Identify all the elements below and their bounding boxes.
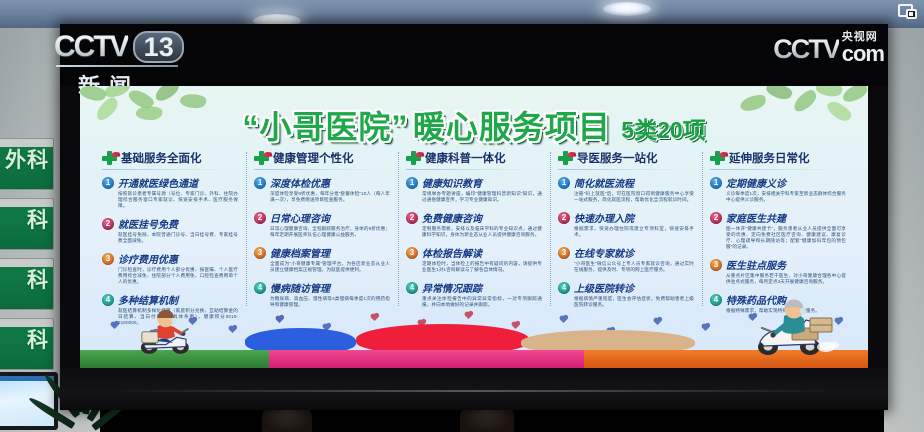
poster-title-count: 5类20项 bbox=[621, 117, 705, 143]
item-number-badge: 2 bbox=[406, 212, 418, 224]
item-title: 诊疗费用优惠 bbox=[118, 251, 178, 266]
medical-cross-icon bbox=[102, 151, 117, 165]
medical-cross-icon bbox=[710, 151, 725, 165]
item-title: 健康知识教育 bbox=[422, 175, 482, 190]
channel-number: 13 bbox=[133, 31, 184, 63]
item-title: 上级医院转诊 bbox=[574, 280, 634, 295]
department-sign: 科 bbox=[0, 198, 54, 250]
item-title: 体检报告解读 bbox=[422, 245, 482, 260]
item-number-badge: 4 bbox=[406, 282, 418, 294]
item-body: 门诊检查时，诊疗费用个人部分优惠、按医嘱、个人医疗费用综合减免、住院部分个人费用… bbox=[118, 267, 238, 285]
screen-top-bezel bbox=[60, 24, 888, 86]
screen-bottom-bezel bbox=[60, 368, 888, 410]
medical-cross-icon bbox=[558, 151, 573, 165]
item-number-badge: 1 bbox=[558, 177, 570, 189]
poster-item: 1开通就医绿色通道 按照就诊患者专属号源（号位、专家门诊、外科、住院办理综合服务… bbox=[102, 175, 238, 209]
item-number-badge: 2 bbox=[558, 212, 570, 224]
poster-item: 3体检报告解读 定期体检时，当体检上的报告中有疑问的内容，请提供专业医生1对1咨… bbox=[406, 245, 542, 273]
medical-cross-icon bbox=[254, 151, 269, 165]
poster-item: 2就医挂号免费 就医挂号免除、本院普通门诊号、当日挂号费、专家挂号费全面减免。 bbox=[102, 216, 238, 244]
department-sign: 外科 bbox=[0, 138, 54, 190]
item-body: 从重点片区集中服务若干医生，对小哥健康合理各中心提供驻点式服务，每月定点3天开展… bbox=[726, 273, 846, 285]
item-number-badge: 2 bbox=[102, 218, 114, 230]
poster-columns: 基础服务全面化 1开通就医绿色通道 按照就诊患者专属号源（号位、专家门诊、外科、… bbox=[94, 150, 854, 312]
poster-title-main: 暖心服务项目 bbox=[413, 109, 611, 145]
column-rule bbox=[254, 169, 390, 170]
column-rule bbox=[102, 169, 238, 170]
item-title: 在线专家就诊 bbox=[574, 245, 634, 260]
item-number-badge: 1 bbox=[102, 177, 114, 189]
item-body: “小哥医生”微信公众号上专人员专家就诊咨询，通过实时在线服务，提供及时、专项的网… bbox=[574, 261, 694, 273]
item-title: 健康档案管理 bbox=[270, 245, 330, 260]
item-title: 慢病随访管理 bbox=[270, 280, 330, 295]
screen-share-icon[interactable] bbox=[898, 4, 918, 22]
item-body: 全面成为“小哥健康专属”管理平台，为各区新业态从业人员建立健康档案正规管理，为就… bbox=[270, 261, 390, 273]
poster-column-1: 基础服务全面化 1开通就医绿色通道 按照就诊患者专属号源（号位、专家门诊、外科、… bbox=[94, 150, 246, 312]
poster-content: “小哥医院” 暖心服务项目 5类20项 基础服务全面化 1开通就医绿色通道 按照… bbox=[80, 86, 868, 368]
item-body: 义诊每季度1次，安排相关学科专家至新业态群体综合服务中心提供义诊服务。 bbox=[726, 191, 846, 203]
item-number-badge: 1 bbox=[406, 177, 418, 189]
medical-cross-icon bbox=[406, 151, 421, 165]
poster-item: 4慢病随访管理 为糖尿病、高血压、慢性病等4类慢病每季度1次的用药指导和健康管理… bbox=[254, 280, 390, 308]
item-body: 按照就诊患者专属号源（号位、专家门诊、外科、住院办理综合服务窗口专家就诊、快速安… bbox=[118, 191, 238, 209]
screenshot-root: 外科 科 科 科 CCTV 13 新闻 CCTV bbox=[0, 0, 924, 432]
item-body: 根据病情严重程度，医生会评估症状，免费帮助患者上级医院转诊服务。 bbox=[574, 296, 694, 308]
item-body: 就医挂号免除、本院普通门诊号、当日挂号费、专家挂号费全面减免。 bbox=[118, 232, 238, 244]
item-body: 日常心理健康咨询、全程跟踪服务治疗，身体的8折优惠；每年定期开展医师队伍心理健康… bbox=[270, 226, 390, 238]
item-number-badge: 4 bbox=[102, 294, 114, 306]
poster-item: 4异常情况跟踪 重点关注体检报告中的异常异常指标，一对专项跟踪通报，并向本地做好… bbox=[406, 280, 542, 308]
poster-item: 3在线专家就诊 “小哥医生”微信公众号上专人员专家就诊咨询，通过实时在线服务，提… bbox=[558, 245, 694, 273]
poster-column-3: 健康科普一体化 1健康知识教育 常规举办专题讲座，编印“健康管理科普新知识”知识… bbox=[398, 150, 550, 312]
poster-column-4: 导医服务一站化 1简化就医流程 注册“码上就医”后，可在医院窗口得到健康服务中心… bbox=[550, 150, 702, 312]
item-number-badge: 4 bbox=[710, 294, 722, 306]
wall-right bbox=[884, 28, 924, 432]
cctv-watermark-wordmark: CCTV bbox=[773, 34, 839, 65]
item-title: 异常情况跟踪 bbox=[422, 280, 482, 295]
poster-item: 1深度体检优惠 深度体检享受8折优惠，每年分批“套餐体检”10人（每人年满一次）… bbox=[254, 175, 390, 203]
item-title: 日常心理咨询 bbox=[270, 210, 330, 225]
poster-item: 2免费健康咨询 定制服务需要，安排以及临床学科的专业知识点，通过健康科学知识，身… bbox=[406, 210, 542, 238]
item-number-badge: 2 bbox=[710, 212, 722, 224]
item-body: 根据需求，快速办理住院或建立专项科室，快速安排手术。 bbox=[574, 226, 694, 238]
ceiling-light-2 bbox=[603, 2, 651, 16]
item-body: 图一体开“健康共建卡”，服务患者从业人员提供全面可享受的优惠、定向免费社区医疗咨… bbox=[726, 226, 846, 250]
department-sign-board: 外科 科 科 科 bbox=[0, 138, 54, 378]
poster-column-5: 延伸服务日常化 1定期健康义诊 义诊每季度1次，安排相关学科专家至新业态群体综合… bbox=[702, 150, 854, 312]
poster-item: 1简化就医流程 注册“码上就医”后，可在医院窗口得到健康服务中心享受一站式服务，… bbox=[558, 175, 694, 203]
cctv-wordmark: CCTV bbox=[54, 30, 128, 64]
cctv-com-watermark: CCTV 央视网 com bbox=[773, 32, 884, 65]
item-title: 简化就医流程 bbox=[574, 175, 634, 190]
column-rule bbox=[710, 169, 846, 170]
poster-item: 3健康档案管理 全面成为“小哥健康专属”管理平台，为各区新业态从业人员建立健康档… bbox=[254, 245, 390, 273]
domain-label: com bbox=[842, 43, 884, 65]
poster-title: “小哥医院” 暖心服务项目 5类20项 bbox=[80, 102, 868, 148]
item-number-badge: 4 bbox=[558, 282, 570, 294]
item-title: 医生驻点服务 bbox=[726, 257, 786, 272]
column-header: 健康管理个性化 bbox=[273, 150, 354, 166]
poster-item: 2快速办理入院 根据需求，快速办理住院或建立专项科室，快速安排手术。 bbox=[558, 210, 694, 238]
column-rule bbox=[558, 169, 694, 170]
poster-title-quoted: “小哥医院” bbox=[242, 109, 408, 145]
poster-column-2: 健康管理个性化 1深度体检优惠 深度体检享受8折优惠，每年分批“套餐体检”10人… bbox=[246, 150, 398, 312]
poster-item: 3诊疗费用优惠 门诊检查时，诊疗费用个人部分优惠、按医嘱、个人医疗费用综合减免、… bbox=[102, 251, 238, 285]
column-header: 基础服务全面化 bbox=[121, 150, 202, 166]
led-display-screen: CCTV 13 新闻 CCTV 央视网 com bbox=[60, 24, 888, 410]
item-title: 就医挂号免费 bbox=[118, 216, 178, 231]
item-title: 快速办理入院 bbox=[574, 210, 634, 225]
item-body: 定制服务需要，安排以及临床学科的专业知识点，通过健康科学知识，身体为新业态从业人… bbox=[422, 226, 542, 238]
delivery-rider-right-illustration bbox=[748, 298, 844, 356]
item-body: 注册“码上就医”后，可在医院窗口得到健康服务中心享受一站式服务，简化就医流程，帮… bbox=[574, 191, 694, 203]
item-number-badge: 4 bbox=[254, 282, 266, 294]
item-number-badge: 3 bbox=[254, 247, 266, 259]
poster-item: 1健康知识教育 常规举办专题讲座，编印“健康管理科普新知识”知识，通过通俗健康宣… bbox=[406, 175, 542, 203]
item-title: 家庭医生共建 bbox=[726, 210, 786, 225]
item-title: 免费健康咨询 bbox=[422, 210, 482, 225]
poster-item: 3医生驻点服务 从重点片区集中服务若干医生，对小哥健康合理各中心提供驻点式服务，… bbox=[710, 257, 846, 285]
item-body: 为糖尿病、高血压、慢性病等4类慢病每季度1次的用药指导和健康管理。 bbox=[270, 296, 390, 308]
item-title: 多种结算机制 bbox=[118, 292, 178, 307]
column-header: 健康科普一体化 bbox=[425, 150, 506, 166]
poster-item: 2日常心理咨询 日常心理健康咨询、全程跟踪服务治疗，身体的8折优惠；每年定期开展… bbox=[254, 210, 390, 238]
logo-underline bbox=[56, 65, 178, 67]
department-sign: 科 bbox=[0, 258, 54, 310]
poster-item: 1定期健康义诊 义诊每季度1次，安排相关学科专家至新业态群体综合服务中心提供义诊… bbox=[710, 175, 846, 203]
column-header: 导医服务一站化 bbox=[577, 150, 658, 166]
column-rule bbox=[406, 169, 542, 170]
poster-item: 2家庭医生共建 图一体开“健康共建卡”，服务患者从业人员提供全面可享受的优惠、定… bbox=[710, 210, 846, 250]
item-number-badge: 1 bbox=[710, 177, 722, 189]
item-number-badge: 1 bbox=[254, 177, 266, 189]
column-header: 延伸服务日常化 bbox=[729, 150, 810, 166]
item-number-badge: 2 bbox=[254, 212, 266, 224]
item-body: 深度体检享受8折优惠，每年分批“套餐体检”10人（每人年满一次），享免费赠送项目… bbox=[270, 191, 390, 203]
poster-item: 4上级医院转诊 根据病情严重程度，医生会评估症状，免费帮助患者上级医院转诊服务。 bbox=[558, 280, 694, 308]
item-body: 常规举办专题讲座，编印“健康管理科普新知识”知识，通过通俗健康宣传，学习专业健康… bbox=[422, 191, 542, 203]
item-number-badge: 3 bbox=[710, 259, 722, 271]
item-title: 开通就医绿色通道 bbox=[118, 175, 198, 190]
item-number-badge: 3 bbox=[558, 247, 570, 259]
item-title: 深度体检优惠 bbox=[270, 175, 330, 190]
item-body: 重点关注体检报告中的异常异常指标，一对专项跟踪通报，并向本地做好的记录并跟踪。 bbox=[422, 296, 542, 308]
item-body: 定期体检时，当体检上的报告中有疑问的内容，请提供专业医生1对1咨询解读与了解各自… bbox=[422, 261, 542, 273]
item-title: 定期健康义诊 bbox=[726, 175, 786, 190]
item-number-badge: 3 bbox=[406, 247, 418, 259]
item-number-badge: 3 bbox=[102, 253, 114, 265]
delivery-rider-left-illustration bbox=[129, 306, 197, 354]
